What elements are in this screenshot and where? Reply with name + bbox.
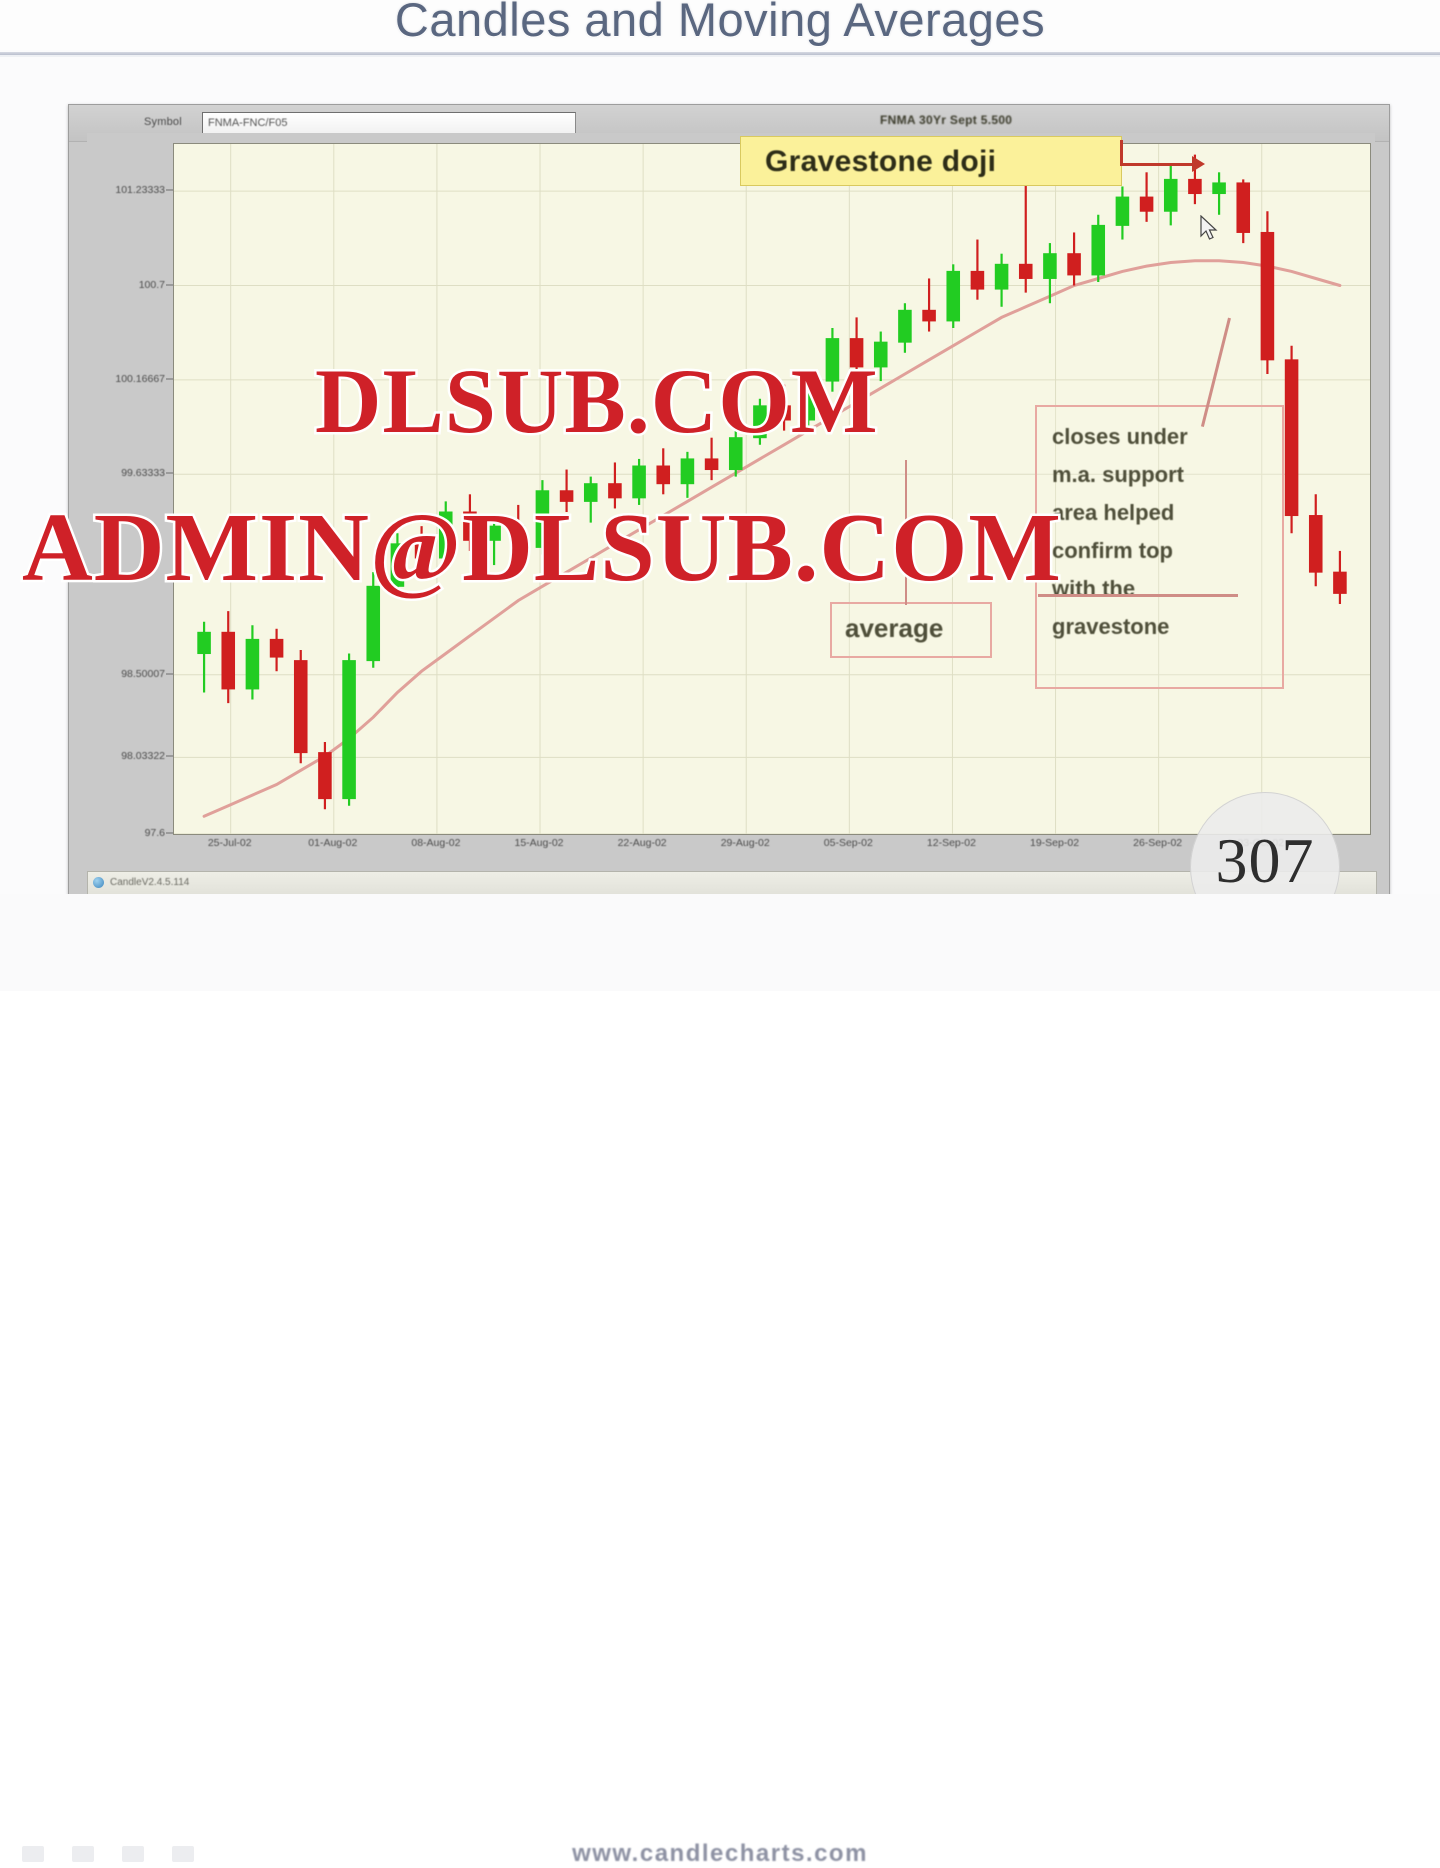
- status-bar: CandleV2.4.5.114: [87, 871, 1377, 895]
- footer-icon-1[interactable]: [22, 1846, 44, 1862]
- x-axis-tick-label: 15-Aug-02: [514, 837, 563, 849]
- doji-arrow-shaft: [1120, 163, 1198, 166]
- status-indicator-icon: [93, 877, 104, 888]
- chart-header-label: FNMA 30Yr Sept 5.500: [880, 113, 1012, 127]
- footer-icon-2[interactable]: [72, 1846, 94, 1862]
- watermark-email: ADMIN@DLSUB.COM: [22, 492, 1062, 604]
- right-note-text: closes under m.a. support area helped co…: [1052, 418, 1188, 646]
- gravestone-doji-callout: Gravestone doji: [740, 136, 1122, 186]
- y-axis-tick-label: 100.7: [139, 279, 165, 291]
- page-number: 307: [1190, 824, 1340, 898]
- y-axis-tick-mark: [166, 190, 173, 191]
- x-axis-tick-label: 12-Sep-02: [927, 837, 976, 849]
- footer-toolbar[interactable]: [22, 1846, 194, 1862]
- x-axis-tick-label: 01-Aug-02: [308, 837, 357, 849]
- y-axis-tick-mark: [166, 833, 173, 834]
- symbol-input-value: FNMA-FNC/F05: [208, 117, 287, 129]
- footer-icon-3[interactable]: [122, 1846, 144, 1862]
- y-axis-tick-mark: [166, 756, 173, 757]
- footer-icon-4[interactable]: [172, 1846, 194, 1862]
- y-axis-tick-mark: [166, 378, 173, 379]
- x-axis-tick-label: 22-Aug-02: [618, 837, 667, 849]
- footer-url: www.candlecharts.com: [0, 1840, 1440, 1868]
- footer-band: www.candlecharts.com: [0, 894, 1440, 991]
- average-label: average: [845, 608, 943, 648]
- y-axis-tick-label: 98.03322: [121, 750, 165, 762]
- right-note-underline: [1038, 594, 1238, 597]
- status-text: CandleV2.4.5.114: [110, 877, 189, 888]
- slide-root: Candles and Moving Averages Symbol FNMA-…: [0, 0, 1440, 991]
- y-axis-tick-mark: [166, 473, 173, 474]
- y-axis-tick-mark: [166, 284, 173, 285]
- title-divider-secondary: [0, 55, 1440, 57]
- y-axis-tick-mark: [166, 673, 173, 674]
- x-axis-tick-label: 25-Jul-02: [208, 837, 252, 849]
- y-axis-tick-label: 101.23333: [115, 184, 165, 196]
- symbol-label: Symbol: [144, 116, 182, 128]
- x-axis-tick-label: 05-Sep-02: [824, 837, 873, 849]
- doji-arrow-head-icon: [1192, 156, 1205, 172]
- slide-title-band: Candles and Moving Averages: [0, 0, 1440, 50]
- y-axis: 101.23333100.7100.1666799.6333398.500079…: [87, 143, 173, 833]
- x-axis-tick-label: 29-Aug-02: [721, 837, 770, 849]
- y-axis-tick-label: 99.63333: [121, 467, 165, 479]
- x-axis-tick-label: 19-Sep-02: [1030, 837, 1079, 849]
- y-axis-tick-label: 97.6: [145, 827, 165, 839]
- y-axis-tick-label: 98.50007: [121, 668, 165, 680]
- x-axis-tick-label: 08-Aug-02: [411, 837, 460, 849]
- x-axis-tick-label: 26-Sep-02: [1133, 837, 1182, 849]
- gravestone-doji-label: Gravestone doji: [765, 145, 996, 179]
- mouse-cursor-icon: [1200, 215, 1222, 243]
- watermark-site: DLSUB.COM: [315, 348, 879, 454]
- y-axis-tick-label: 100.16667: [115, 373, 165, 385]
- page-title: Candles and Moving Averages: [0, 0, 1440, 47]
